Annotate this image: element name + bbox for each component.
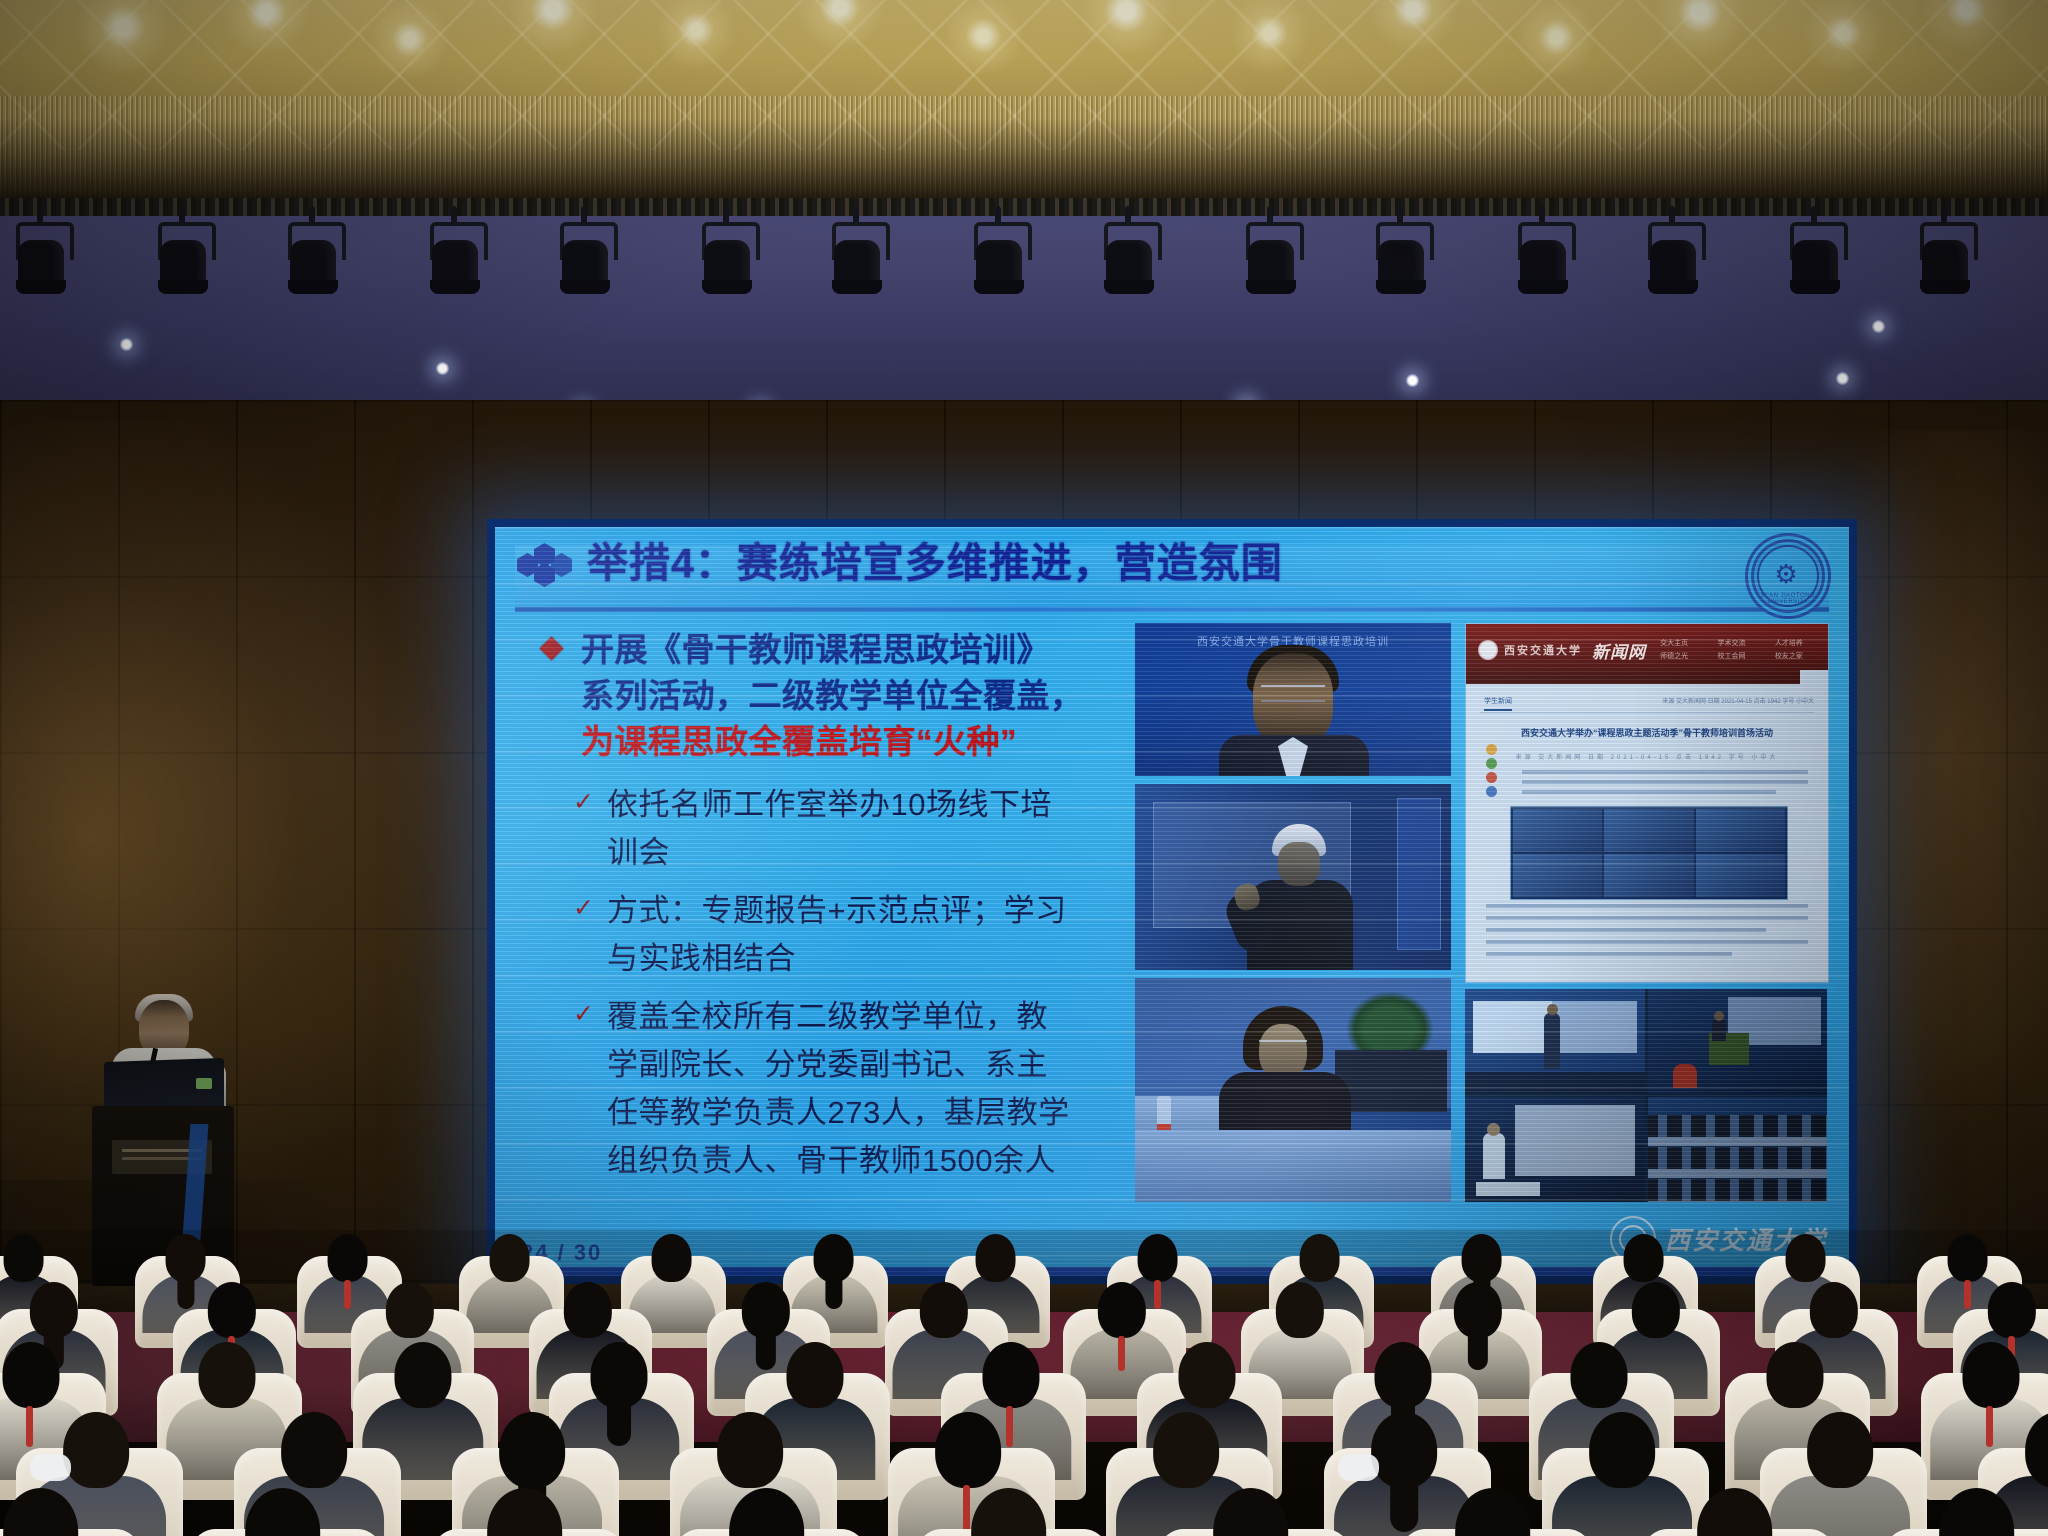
classroom-cell-4 [1648,1097,1828,1202]
audience-member [1654,1488,1815,1536]
news-site-logo-icon [1478,640,1498,660]
check-icon: ✓ [573,791,595,813]
news-embedded-photo [1510,806,1788,900]
news-menu-item: 学术交流 [1706,638,1756,648]
photo-woman-at-meeting-table [1135,978,1451,1202]
news-byline: 来源 交大新闻网 日期 2021-04-15 点击 1942 字号 小中大 [1466,752,1828,761]
sub-bullet-3-line-3: 任等教学负责人273人，基层教学 [607,1089,1114,1137]
news-menu-item: 校友之家 [1764,651,1814,661]
sub-bullet-2-line-1: 方式：专题报告+示范点评；学习 [607,887,1114,935]
lighting-truss [0,198,2048,216]
news-menu-item: 师德之光 [1649,651,1699,661]
audience-member [1896,1488,2048,1536]
news-site-university-name: 西安交通大学 [1504,642,1582,658]
audience-member [928,1488,1089,1536]
stage-spotlight [1098,218,1160,296]
slide-title: 举措4：赛练培宣多维推进，营造氛围 [587,539,1283,587]
sub-bullet-3-line-1: 覆盖全校所有二级教学单位，教 [607,993,1114,1041]
ceiling-shadow [0,118,2048,205]
check-icon: ✓ [573,897,595,919]
sub-bullet-2-line-2: 与实践相结合 [607,935,1114,983]
news-share-icons [1486,744,1508,800]
check-icon: ✓ [573,1003,595,1025]
sub-bullet-1-line-2: 训会 [607,829,1114,877]
stage-spotlight [152,218,214,296]
news-site-menu: 交大主页 学术交流 人才培养 师德之光 校工会网 校友之家 [1649,638,1814,661]
xjtu-seal-icon: ⚙ XI'AN JIAOTONG UNIVERSITY [1745,533,1831,619]
stage-spotlight [424,218,486,296]
stage-spotlight [1512,218,1574,296]
audience-member [202,1488,363,1536]
laptop-indicator [196,1078,212,1089]
ceiling-downlight [1406,374,1419,387]
audience-member [0,1488,121,1536]
news-menu-item: 人才培养 [1764,638,1814,648]
stage-spotlight [554,218,616,296]
main-bullet-line-1: 开展《骨干教师课程思政培训》 [581,627,1114,673]
presentation-slide[interactable]: 举措4：赛练培宣多维推进，营造氛围 ⚙ XI'AN JIAOTONG UNIVE… [495,527,1849,1276]
news-headline: 西安交通大学举办“课程思政主题活动季”骨干教师培训首场活动 [1486,726,1808,740]
photo-speaker-blue-backdrop: 西安交通大学骨干教师课程思政培训 [1135,623,1451,776]
diamond-bullet-icon [539,636,563,660]
stage-spotlight [1642,218,1704,296]
photo-news-website-screenshot: 西安交通大学 新闻网 交大主页 学术交流 人才培养 师德之光 校工会网 校友之家… [1465,623,1829,983]
sub-bullet-3-line-4: 组织负责人、骨干教师1500余人 [607,1137,1114,1185]
stage-spotlight [826,218,888,296]
sub-bullet-2: ✓ 方式：专题报告+示范点评；学习 与实践相结合 [529,887,1114,983]
classroom-cell-3 [1465,1097,1645,1202]
slide-text-column: 开展《骨干教师课程思政培训》 系列活动，二级教学单位全覆盖， 为课程思政全覆盖培… [529,627,1114,1195]
news-breadcrumb: 学生新闻 [1484,696,1512,711]
ceiling-downlight [120,338,133,351]
photo-white-haired-lecturer [1135,784,1451,970]
stage-spotlight [1914,218,1976,296]
main-bullet: 开展《骨干教师课程思政培训》 系列活动，二级教学单位全覆盖， 为课程思政全覆盖培… [529,627,1114,765]
news-meta: 来源 交大新闻网 日期 2021-04-15 点击 1942 字号 小中大 [1662,696,1814,705]
news-site-label: 新闻网 [1592,638,1646,663]
stage-spotlight [1370,218,1432,296]
main-bullet-line-2: 系列活动，二级教学单位全覆盖， [581,673,1114,719]
news-menu-item: 校工会网 [1706,651,1756,661]
slide-photo-collage: 西安交通大学骨干教师课程思政培训 西安交通大学 新闻网 [1135,623,1827,1235]
ceiling-downlight [1872,320,1885,333]
sub-bullet-1: ✓ 依托名师工作室举办10场线下培 训会 [529,781,1114,877]
sub-bullet-list: ✓ 依托名师工作室举办10场线下培 训会 ✓ 方式：专题报告+示范点评；学习 与… [529,781,1114,1185]
audience-member [444,1488,605,1536]
ceiling-downlight [1836,372,1849,385]
main-bullet-line-3: 为课程思政全覆盖培育“火种” [581,719,1114,765]
audience-member [686,1488,847,1536]
sub-bullet-1-line-1: 依托名师工作室举办10场线下培 [607,781,1114,829]
sub-bullet-3: ✓ 覆盖全校所有二级教学单位，教 学副院长、分党委副书记、系主 任等教学负责人2… [529,993,1114,1185]
audience [0,1230,2048,1536]
ceiling-downlight [436,362,449,375]
slide-title-underline [515,607,1829,612]
classroom-cell-2 [1648,989,1828,1094]
stage-spotlight [968,218,1030,296]
classroom-cell-1 [1465,989,1645,1094]
stage-spotlight [696,218,758,296]
audience-member [1412,1488,1573,1536]
sub-bullet-3-line-2: 学副院长、分党委副书记、系主 [607,1041,1114,1089]
ceiling-chandelier [0,0,2048,205]
conference-hall-photo: 举措4：赛练培宣多维推进，营造氛围 ⚙ XI'AN JIAOTONG UNIVE… [0,0,2048,1536]
hexagon-cluster-icon [517,543,577,587]
stage-spotlight [282,218,344,296]
news-menu-item: 交大主页 [1649,638,1699,648]
stage-spotlight [10,218,72,296]
stage-spotlight [1784,218,1846,296]
audience-member [1170,1488,1331,1536]
photo-classroom-grid [1465,989,1827,1202]
stage-spotlight [1240,218,1302,296]
